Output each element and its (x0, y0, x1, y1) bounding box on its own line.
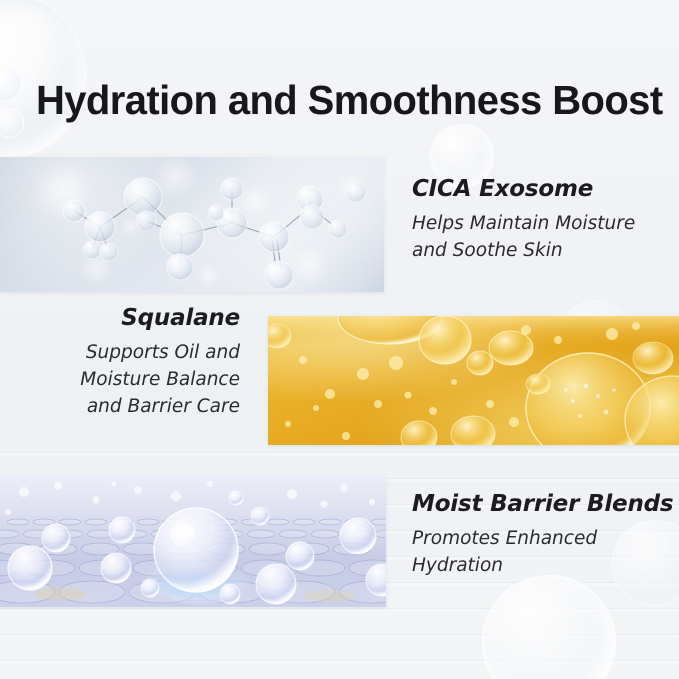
section-body-moist-barrier-blends: Promotes Enhanced Hydration (412, 526, 673, 580)
molecule-diagram-icon (0, 157, 384, 292)
section-body-cica-exosome: Helps Maintain Moisture and Soothe Skin (412, 211, 635, 265)
section-heading-squalane: Squalane (28, 305, 240, 331)
page-title: Hydration and Smoothness Boost (36, 77, 663, 124)
molecule-structure-image (0, 157, 384, 292)
section-heading-moist-barrier-blends: Moist Barrier Blends (412, 491, 673, 517)
product-infographic-page: Hydration and Smoothness Boost (0, 0, 679, 679)
section-body-squalane: Supports Oil and Moisture Balance and Ba… (28, 340, 240, 420)
mesh-barrier-droplets-image (0, 476, 386, 607)
oil-bubbles-illustration (268, 316, 679, 445)
section-text-cica-exosome: CICA Exosome Helps Maintain Moisture and… (412, 176, 635, 265)
section-text-moist-barrier-blends: Moist Barrier Blends Promotes Enhanced H… (412, 491, 673, 580)
golden-oil-bubbles-image (268, 316, 679, 445)
section-text-squalane: Squalane Supports Oil and Moisture Balan… (28, 305, 240, 421)
section-heading-cica-exosome: CICA Exosome (412, 176, 635, 202)
barrier-mesh-illustration (0, 476, 386, 607)
